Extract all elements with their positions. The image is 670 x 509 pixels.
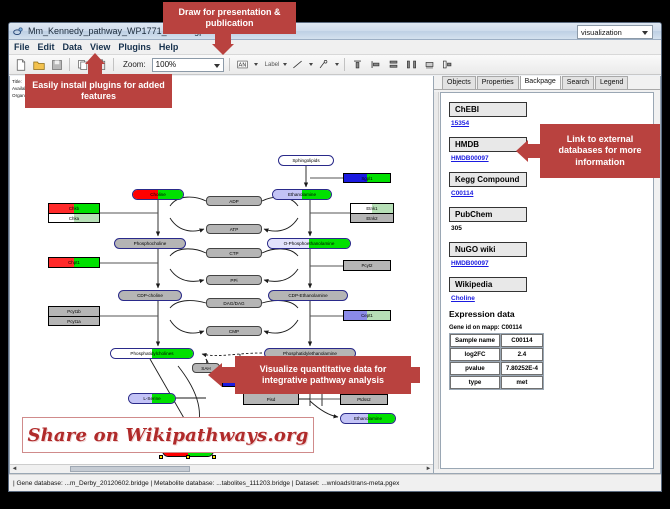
cofactor-atp[interactable]: ATP bbox=[206, 224, 262, 234]
node-o-phosphoethanolamine[interactable]: O-Phosphoethanolamine bbox=[267, 238, 351, 249]
backpage-header-wikipedia: Wikipedia bbox=[449, 277, 527, 292]
backpage-header-chebi: ChEBI bbox=[449, 102, 527, 117]
node-label: O-Phosphoethanolamine bbox=[283, 241, 336, 246]
backpage-header-kegg: Kegg Compound bbox=[449, 172, 527, 187]
tab-backpage[interactable]: Backpage bbox=[520, 76, 561, 89]
gene-etnk1[interactable]: Etnk1 bbox=[350, 203, 394, 213]
line-style-icon[interactable] bbox=[316, 57, 331, 72]
cell-label: type bbox=[450, 376, 500, 389]
node-label: Ethanolamine bbox=[287, 192, 317, 197]
toolbar-separator bbox=[113, 58, 114, 71]
node-label: Phosphatidylcholines bbox=[129, 351, 174, 356]
callout-draw-stem bbox=[215, 34, 231, 44]
open-folder-icon[interactable] bbox=[31, 57, 46, 72]
node-phosphocholine[interactable]: Phosphocholine bbox=[114, 238, 186, 249]
backpage-link-nugo[interactable]: HMDB00097 bbox=[451, 260, 645, 267]
node-l-serine-left[interactable]: L-Serine bbox=[128, 393, 176, 404]
save-icon[interactable] bbox=[49, 57, 64, 72]
align-left-icon[interactable] bbox=[368, 57, 383, 72]
callout-plugins-stem bbox=[88, 64, 102, 74]
text-label-icon[interactable]: AN bbox=[235, 57, 250, 72]
node-label: Ethanolamine bbox=[353, 416, 383, 421]
toolbar-separator bbox=[229, 58, 230, 71]
cofactor-ppi[interactable]: PPi bbox=[206, 275, 262, 285]
gene-label: Chkb bbox=[69, 206, 79, 211]
callout-links-arrow bbox=[516, 140, 528, 162]
gene-pcyt2[interactable]: Pcyt2 bbox=[343, 260, 391, 271]
label-button[interactable]: Label bbox=[265, 62, 280, 68]
callout-text: Link to external databases for more info… bbox=[546, 134, 654, 168]
gene-label: Pisd bbox=[267, 397, 276, 402]
cofactor-cmp[interactable]: CMP bbox=[206, 326, 262, 336]
cell-value: 2.4 bbox=[501, 348, 543, 361]
gene-chkb[interactable]: Chkb bbox=[48, 203, 100, 213]
cell-label: Sample name bbox=[450, 334, 500, 347]
gene-label: Pcyt1a bbox=[67, 319, 80, 324]
distribute-horizontal-icon[interactable] bbox=[404, 57, 419, 72]
table-row: type met bbox=[450, 376, 543, 389]
cofactor-adp[interactable]: ADP bbox=[206, 196, 262, 206]
gene-label: Chpt1 bbox=[68, 260, 80, 265]
backpage-value-pubchem: 305 bbox=[451, 225, 645, 232]
table-row: log2FC 2.4 bbox=[450, 348, 543, 361]
cofactor-label: CTP bbox=[229, 251, 238, 256]
menu-file[interactable]: File bbox=[14, 42, 30, 52]
menu-edit[interactable]: Edit bbox=[38, 42, 55, 52]
gene-pisd[interactable]: Pisd bbox=[243, 393, 299, 405]
node-phosphatidylcholines[interactable]: Phosphatidylcholines bbox=[110, 348, 194, 359]
chevron-down-icon[interactable] bbox=[254, 63, 258, 66]
gene-label: Ptdss2 bbox=[357, 397, 370, 402]
group-icon[interactable] bbox=[440, 57, 455, 72]
gene-ptdss2[interactable]: Ptdss2 bbox=[340, 394, 388, 405]
statusbar-text: | Gene database: ...m_Derby_20120602.bri… bbox=[13, 480, 399, 487]
menu-plugins[interactable]: Plugins bbox=[118, 42, 151, 52]
callout-visualize-stem bbox=[222, 367, 235, 383]
selection-handle-sw[interactable] bbox=[159, 455, 163, 459]
cell-value: C00114 bbox=[501, 334, 543, 347]
stack-vertical-icon[interactable] bbox=[386, 57, 401, 72]
node-label: Choline bbox=[149, 192, 167, 197]
callout-visualize-data: Visualize quantitative data for integrat… bbox=[235, 356, 411, 394]
align-top-icon[interactable] bbox=[350, 57, 365, 72]
statusbar: | Gene database: ...m_Derby_20120602.bri… bbox=[9, 474, 661, 491]
gene-label: Chka bbox=[69, 216, 79, 221]
chevron-down-icon[interactable] bbox=[335, 63, 339, 66]
pathway-canvas[interactable]: Title: Availab Organis bbox=[9, 76, 434, 474]
menu-view[interactable]: View bbox=[90, 42, 110, 52]
gene-label: Pcyt2 bbox=[362, 263, 373, 268]
chevron-down-icon bbox=[642, 31, 648, 35]
gene-pcyt1b[interactable]: Pcyt1b bbox=[48, 306, 100, 316]
gene-chka[interactable]: Chka bbox=[48, 213, 100, 223]
toolbar[interactable]: Zoom: 100% AN Label bbox=[9, 55, 661, 75]
zoom-combo[interactable]: 100% bbox=[152, 58, 224, 72]
cofactor-label: ADP bbox=[229, 199, 238, 204]
cell-value: met bbox=[501, 376, 543, 389]
callout-visualize-stem-right bbox=[411, 367, 420, 383]
share-banner-text: Share on Wikipathways.org bbox=[27, 425, 308, 446]
node-ethanolamine-bottom[interactable]: Ethanolamine bbox=[340, 413, 396, 424]
tab-objects[interactable]: Objects bbox=[442, 76, 476, 89]
node-label: Phosphocholine bbox=[133, 241, 168, 246]
gene-label: Sgpl1 bbox=[361, 176, 372, 181]
backpage-header-pubchem: PubChem bbox=[449, 207, 527, 222]
selection-handle-s[interactable] bbox=[186, 455, 190, 459]
cell-label: log2FC bbox=[450, 348, 500, 361]
side-panel-scrollbar[interactable] bbox=[434, 92, 439, 469]
cofactor-label: PPi bbox=[230, 278, 237, 283]
node-label: CDP-choline bbox=[136, 293, 164, 298]
window-titlebar: Mm_Kennedy_pathway_WP1771_45176.gpml bbox=[9, 23, 661, 40]
callout-text: Visualize quantitative data for integrat… bbox=[241, 364, 405, 387]
cofactor-ctp[interactable]: CTP bbox=[206, 248, 262, 258]
gene-id-note: Gene id on mapp: C00114 bbox=[449, 325, 645, 331]
callout-text: Draw for presentation & publication bbox=[169, 7, 290, 30]
toolbar-separator bbox=[344, 58, 345, 71]
backpage-header-nugo: NuGO wiki bbox=[449, 242, 527, 257]
node-ethanolamine-top[interactable]: Ethanolamine bbox=[272, 189, 332, 200]
gene-label: Etnk2 bbox=[366, 216, 377, 221]
node-label: Sphingolipids bbox=[291, 158, 320, 163]
gene-pcyt1a[interactable]: Pcyt1a bbox=[48, 316, 100, 326]
cell-value: 7.80252E-4 bbox=[501, 362, 543, 375]
callout-external-links: Link to external databases for more info… bbox=[540, 124, 660, 178]
node-label: L-Serine bbox=[142, 396, 161, 401]
callout-visualize-arrow bbox=[208, 363, 222, 387]
tab-search[interactable]: Search bbox=[562, 76, 594, 89]
cofactor-label: CMP bbox=[229, 329, 239, 334]
node-sphingolipids[interactable]: Sphingolipids bbox=[278, 155, 334, 166]
callout-plugins-arrow bbox=[85, 53, 105, 64]
table-row: Sample name C00114 bbox=[450, 334, 543, 347]
table-row: pvalue 7.80252E-4 bbox=[450, 362, 543, 375]
callout-text: Easily install plugins for added feature… bbox=[31, 80, 166, 103]
line-icon[interactable] bbox=[290, 57, 305, 72]
gene-chpt1[interactable]: Chpt1 bbox=[48, 257, 100, 268]
chevron-down-icon bbox=[214, 64, 220, 68]
toolbar-separator bbox=[69, 58, 70, 71]
share-banner: Share on Wikipathways.org bbox=[22, 417, 314, 453]
zoom-label: Zoom: bbox=[123, 60, 146, 69]
callout-draw-arrow bbox=[212, 44, 234, 55]
menu-data[interactable]: Data bbox=[63, 42, 83, 52]
gene-label: Etnk1 bbox=[366, 206, 377, 211]
gene-cept1[interactable]: Cept1 bbox=[343, 310, 391, 321]
chevron-down-icon[interactable] bbox=[283, 63, 287, 66]
tab-properties[interactable]: Properties bbox=[477, 76, 519, 89]
node-cdp-choline[interactable]: CDP-choline bbox=[118, 290, 182, 301]
tab-legend[interactable]: Legend bbox=[595, 76, 628, 89]
expression-data-title: Expression data bbox=[449, 309, 645, 319]
menu-help[interactable]: Help bbox=[159, 42, 179, 52]
gene-sgpl1[interactable]: Sgpl1 bbox=[343, 173, 391, 183]
node-choline-top[interactable]: Choline bbox=[132, 189, 184, 200]
cofactor-dag[interactable]: DAG/DAG bbox=[206, 298, 262, 308]
cofactor-label: ATP bbox=[230, 227, 239, 232]
cell-label: pvalue bbox=[450, 362, 500, 375]
screenshot-root: Mm_Kennedy_pathway_WP1771_45176.gpml Fil… bbox=[0, 0, 670, 509]
cofactor-label: DAG/DAG bbox=[223, 301, 244, 306]
visualization-value: visualization bbox=[581, 28, 622, 37]
new-file-icon[interactable] bbox=[13, 57, 28, 72]
backpage-link-wikipedia[interactable]: Choline bbox=[451, 295, 645, 302]
callout-install-plugins: Easily install plugins for added feature… bbox=[25, 74, 172, 108]
callout-draw-for-publication: Draw for presentation & publication bbox=[163, 2, 296, 34]
side-panel-tabs[interactable]: Objects Properties Backpage Search Legen… bbox=[434, 76, 660, 90]
selection-handle-se[interactable] bbox=[212, 455, 216, 459]
expression-data-table: Sample name C00114 log2FC 2.4 pvalue 7.8… bbox=[449, 333, 544, 390]
node-label: CDP-Ethanolamine bbox=[287, 293, 328, 298]
gene-label: Pcyt1b bbox=[67, 309, 80, 314]
gene-etnk2[interactable]: Etnk2 bbox=[350, 213, 394, 223]
size-equal-icon[interactable] bbox=[422, 57, 437, 72]
svg-text:AN: AN bbox=[238, 63, 246, 69]
callout-links-stem bbox=[528, 144, 540, 158]
node-cdp-ethanolamine[interactable]: CDP-Ethanolamine bbox=[268, 290, 348, 301]
chevron-down-icon[interactable] bbox=[309, 63, 313, 66]
pathvisio-icon bbox=[13, 26, 24, 37]
visualization-combo[interactable]: visualization bbox=[577, 25, 653, 39]
gene-label: Cept1 bbox=[361, 313, 373, 318]
menubar[interactable]: File Edit Data View Plugins Help bbox=[9, 40, 661, 55]
backpage-link-kegg[interactable]: C00114 bbox=[451, 190, 645, 197]
zoom-value: 100% bbox=[156, 60, 176, 69]
